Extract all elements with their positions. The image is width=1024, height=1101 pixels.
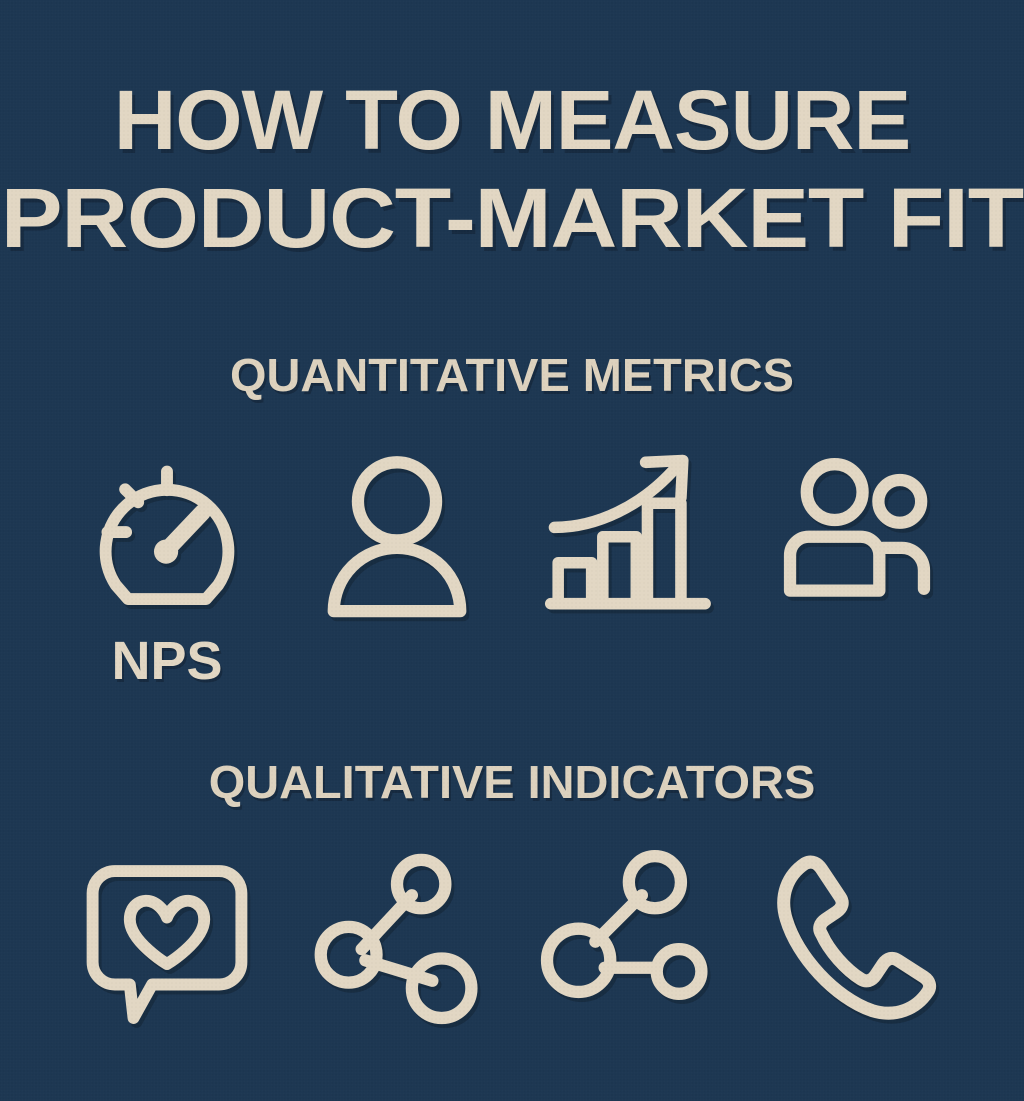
icon-cell-referral	[282, 845, 512, 1031]
icon-row-quantitative: NPS	[0, 440, 1024, 692]
icon-cell-growth	[512, 440, 742, 626]
icon-cell-nps: NPS	[52, 440, 282, 692]
user-icon	[304, 440, 490, 626]
icon-cell-interviews	[742, 845, 972, 1031]
icon-row-qualitative	[0, 845, 1024, 1031]
icon-cell-user	[282, 440, 512, 626]
icon-cell-feedback	[52, 845, 282, 1031]
users-group-icon	[764, 440, 950, 626]
phone-handset-icon	[764, 845, 950, 1031]
title-line-2: PRODUCT-MARKET FIT	[0, 176, 1024, 260]
poster-title: HOW TO MEASURE PRODUCT-MARKET FIT	[0, 78, 1024, 260]
icon-caption-nps: NPS	[111, 630, 222, 692]
gauge-icon	[74, 440, 260, 626]
growth-bar-chart-icon	[534, 440, 720, 626]
section-heading-qualitative: QUALITATIVE INDICATORS	[0, 755, 1024, 809]
share-network-alt-icon	[534, 845, 720, 1031]
icon-cell-word-of-mouth	[512, 845, 742, 1031]
speech-bubble-heart-icon	[74, 845, 260, 1031]
section-heading-quantitative: QUANTITATIVE METRICS	[0, 348, 1024, 402]
icon-cell-users-group	[742, 440, 972, 626]
share-network-icon	[304, 845, 490, 1031]
title-line-1: HOW TO MEASURE	[0, 78, 1024, 162]
infographic-poster: HOW TO MEASURE PRODUCT-MARKET FIT QUANTI…	[0, 0, 1024, 1101]
